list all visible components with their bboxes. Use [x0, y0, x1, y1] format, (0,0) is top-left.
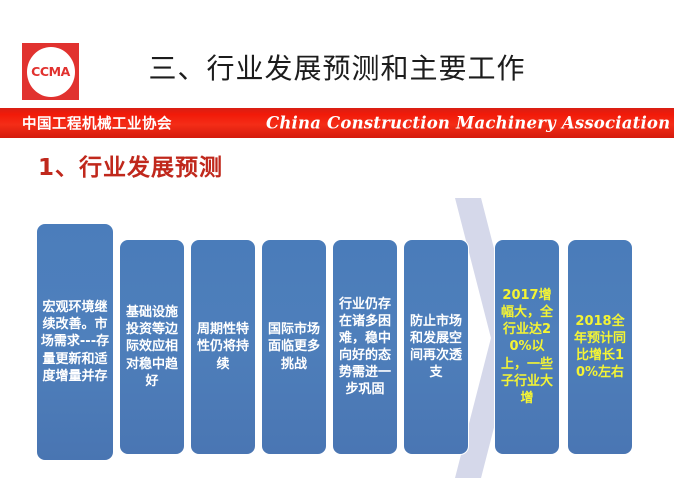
- slide-canvas: CCMA 三、行业发展预测和主要工作 中国工程机械工业协会 China Cons…: [0, 0, 674, 490]
- process-box-label: 宏观环境继续改善。市场需求---存量更新和适度增量并存: [40, 299, 110, 385]
- slide-header: CCMA 三、行业发展预测和主要工作: [0, 0, 674, 108]
- process-box-3[interactable]: 周期性特性仍将持续: [190, 239, 256, 455]
- process-box-label: 2017增幅大，全行业达20%以上，一些子行业大增: [498, 287, 556, 407]
- association-banner: 中国工程机械工业协会 China Construction Machinery …: [0, 108, 674, 138]
- process-box-7[interactable]: 2017增幅大，全行业达20%以上，一些子行业大增: [494, 239, 560, 455]
- process-box-6[interactable]: 防止市场和发展空间再次透支: [403, 239, 469, 455]
- process-box-4[interactable]: 国际市场面临更多挑战: [261, 239, 327, 455]
- process-box-label: 2018全年预计同比增长10%左右: [571, 313, 629, 382]
- process-box-label: 防止市场和发展空间再次透支: [407, 313, 465, 382]
- association-name-chinese: 中国工程机械工业协会: [22, 113, 172, 134]
- process-box-label: 基础设施投资等边际效应相对稳中趋好: [123, 304, 181, 390]
- page-title: 三、行业发展预测和主要工作: [0, 47, 674, 87]
- process-box-1[interactable]: 宏观环境继续改善。市场需求---存量更新和适度增量并存: [36, 223, 114, 461]
- process-box-label: 国际市场面临更多挑战: [265, 321, 323, 372]
- process-box-label: 周期性特性仍将持续: [194, 321, 252, 372]
- association-name-english: China Construction Machinery Association: [266, 114, 670, 133]
- process-box-8[interactable]: 2018全年预计同比增长10%左右: [567, 239, 633, 455]
- process-box-5[interactable]: 行业仍存在诸多困难，稳中向好的态势需进一步巩固: [332, 239, 398, 455]
- forecast-process-diagram: 宏观环境继续改善。市场需求---存量更新和适度增量并存 基础设施投资等边际效应相…: [0, 195, 674, 485]
- process-box-2[interactable]: 基础设施投资等边际效应相对稳中趋好: [119, 239, 185, 455]
- process-box-label: 行业仍存在诸多困难，稳中向好的态势需进一步巩固: [336, 296, 394, 399]
- section-heading: 1、行业发展预测: [38, 148, 223, 182]
